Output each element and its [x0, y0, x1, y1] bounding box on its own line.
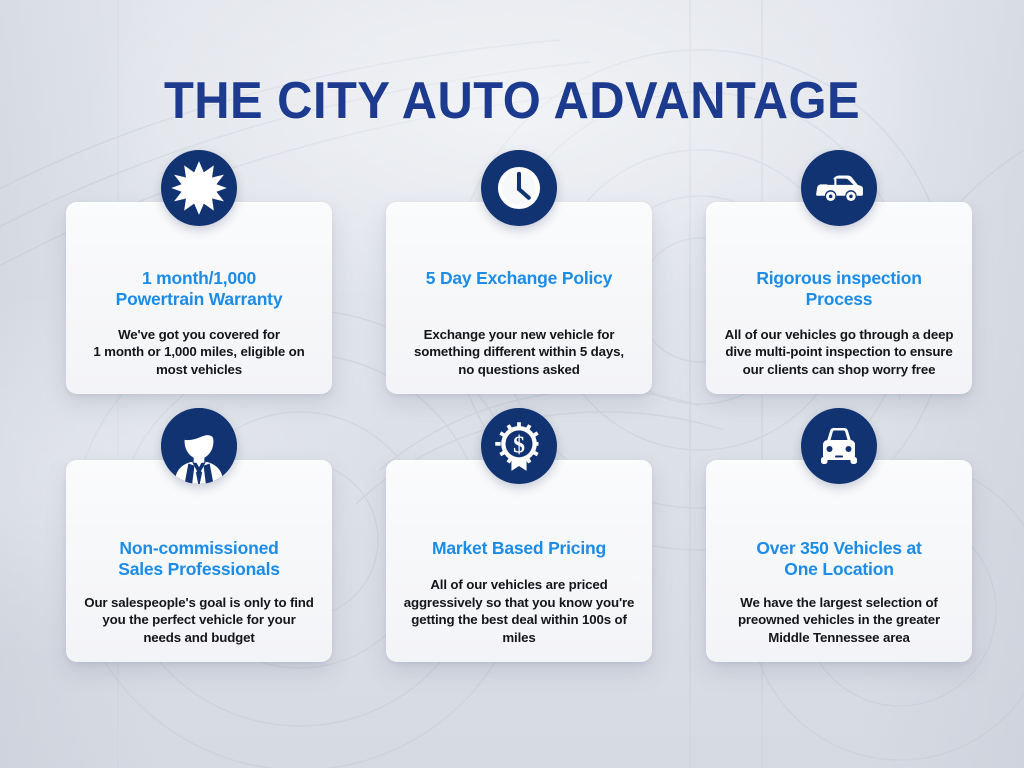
card-body: We've got you covered for 1 month or 1,0… — [79, 326, 319, 379]
card-heading: Over 350 Vehicles at One Location — [718, 538, 960, 580]
svg-text:$: $ — [513, 432, 525, 458]
advantage-card[interactable]: $ Market Based Pricing All of our vehicl… — [386, 460, 652, 662]
card-heading: Non-commissioned Sales Professionals — [78, 538, 320, 580]
advantage-card[interactable]: Rigorous inspection Process All of our v… — [706, 202, 972, 394]
card-body: All of our vehicles go through a deep di… — [719, 326, 959, 379]
page-title: THE CITY AUTO ADVANTAGE — [31, 72, 994, 130]
starburst-icon — [161, 150, 237, 226]
card-body: All of our vehicles are priced aggressiv… — [399, 576, 639, 646]
card-heading: 5 Day Exchange Policy — [398, 268, 640, 289]
advantage-card-grid: 1 month/1,000 Powertrain Warranty We've … — [66, 202, 972, 662]
clock-icon — [481, 150, 557, 226]
advantage-card[interactable]: 5 Day Exchange Policy Exchange your new … — [386, 202, 652, 394]
advantage-card[interactable]: 1 month/1,000 Powertrain Warranty We've … — [66, 202, 332, 394]
card-heading: Market Based Pricing — [398, 538, 640, 559]
dollar-rosette-icon: $ — [481, 408, 557, 484]
infographic-stage: THE CITY AUTO ADVANTAGE 1 month/1,000 Po… — [0, 0, 1024, 768]
card-body: We have the largest selection of preowne… — [719, 594, 959, 647]
card-body: Our salespeople's goal is only to find y… — [79, 594, 319, 647]
business-person-icon — [161, 408, 237, 484]
car-side-icon — [801, 150, 877, 226]
card-heading: 1 month/1,000 Powertrain Warranty — [78, 268, 320, 310]
card-body: Exchange your new vehicle for something … — [399, 326, 639, 379]
card-heading: Rigorous inspection Process — [718, 268, 960, 310]
car-front-icon — [801, 408, 877, 484]
advantage-card[interactable]: Over 350 Vehicles at One Location We hav… — [706, 460, 972, 662]
advantage-card[interactable]: Non-commissioned Sales Professionals Our… — [66, 460, 332, 662]
